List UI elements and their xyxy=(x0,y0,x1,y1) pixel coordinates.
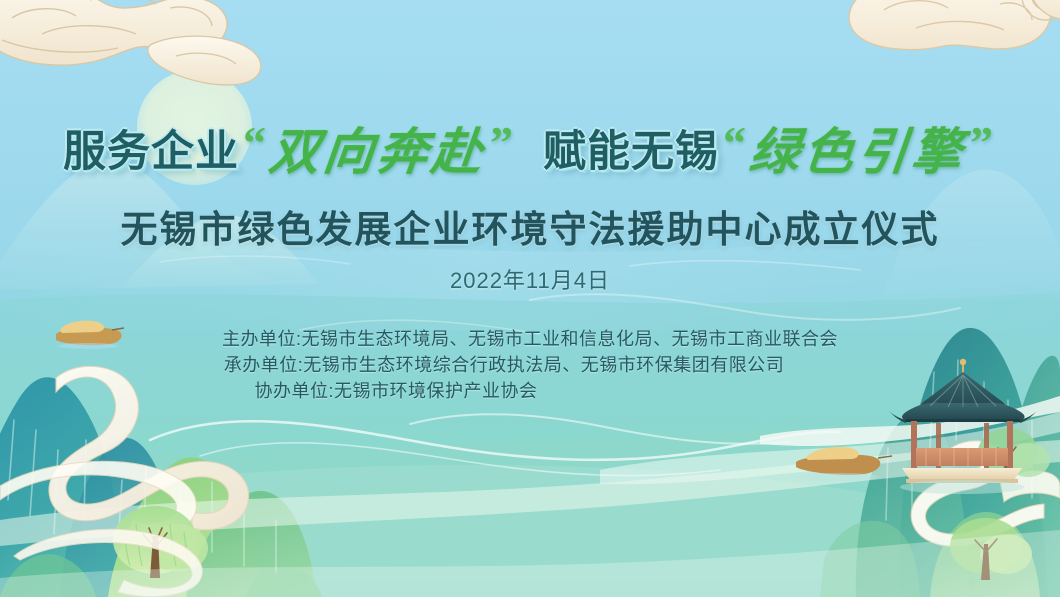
quote-close-1: ” xyxy=(486,116,517,169)
text-zone: 服务企业 “ 双向奔赴 ” 赋能无锡 “ 绿色引擎 ” 无锡市绿色发展企业环境守… xyxy=(0,0,1060,430)
subtitle: 无锡市绿色发展企业环境守法援助中心成立仪式 xyxy=(0,199,1060,253)
event-date: 2022年11月4日 xyxy=(0,263,1060,295)
title-highlight-1: 双向奔赴 xyxy=(266,112,490,184)
title-segment-1: 服务企业 xyxy=(63,117,239,179)
quote-open-1: “ xyxy=(239,116,270,169)
main-title: 服务企业 “ 双向奔赴 ” 赋能无锡 “ 绿色引擎 ” xyxy=(0,112,1060,184)
organizer-line-host: 主办单位:无锡市生态环境局、无锡市工业和信息化局、无锡市工商业联合会 xyxy=(0,326,1060,352)
poster-canvas: 服务企业 “ 双向奔赴 ” 赋能无锡 “ 绿色引擎 ” 无锡市绿色发展企业环境守… xyxy=(0,0,1060,597)
organizer-line-coorganizer: 协办单位:无锡市环境保护产业协会 xyxy=(0,378,1060,404)
quote-close-2: ” xyxy=(966,116,997,169)
quote-open-2: “ xyxy=(719,116,750,169)
organizer-line-undertaker: 承办单位:无锡市生态环境综合行政执法局、无锡市环保集团有限公司 xyxy=(0,352,1060,378)
organizer-block: 主办单位:无锡市生态环境局、无锡市工业和信息化局、无锡市工商业联合会 承办单位:… xyxy=(0,326,1060,404)
title-segment-2: 赋能无锡 xyxy=(543,117,719,179)
title-highlight-2: 绿色引擎 xyxy=(746,112,970,184)
